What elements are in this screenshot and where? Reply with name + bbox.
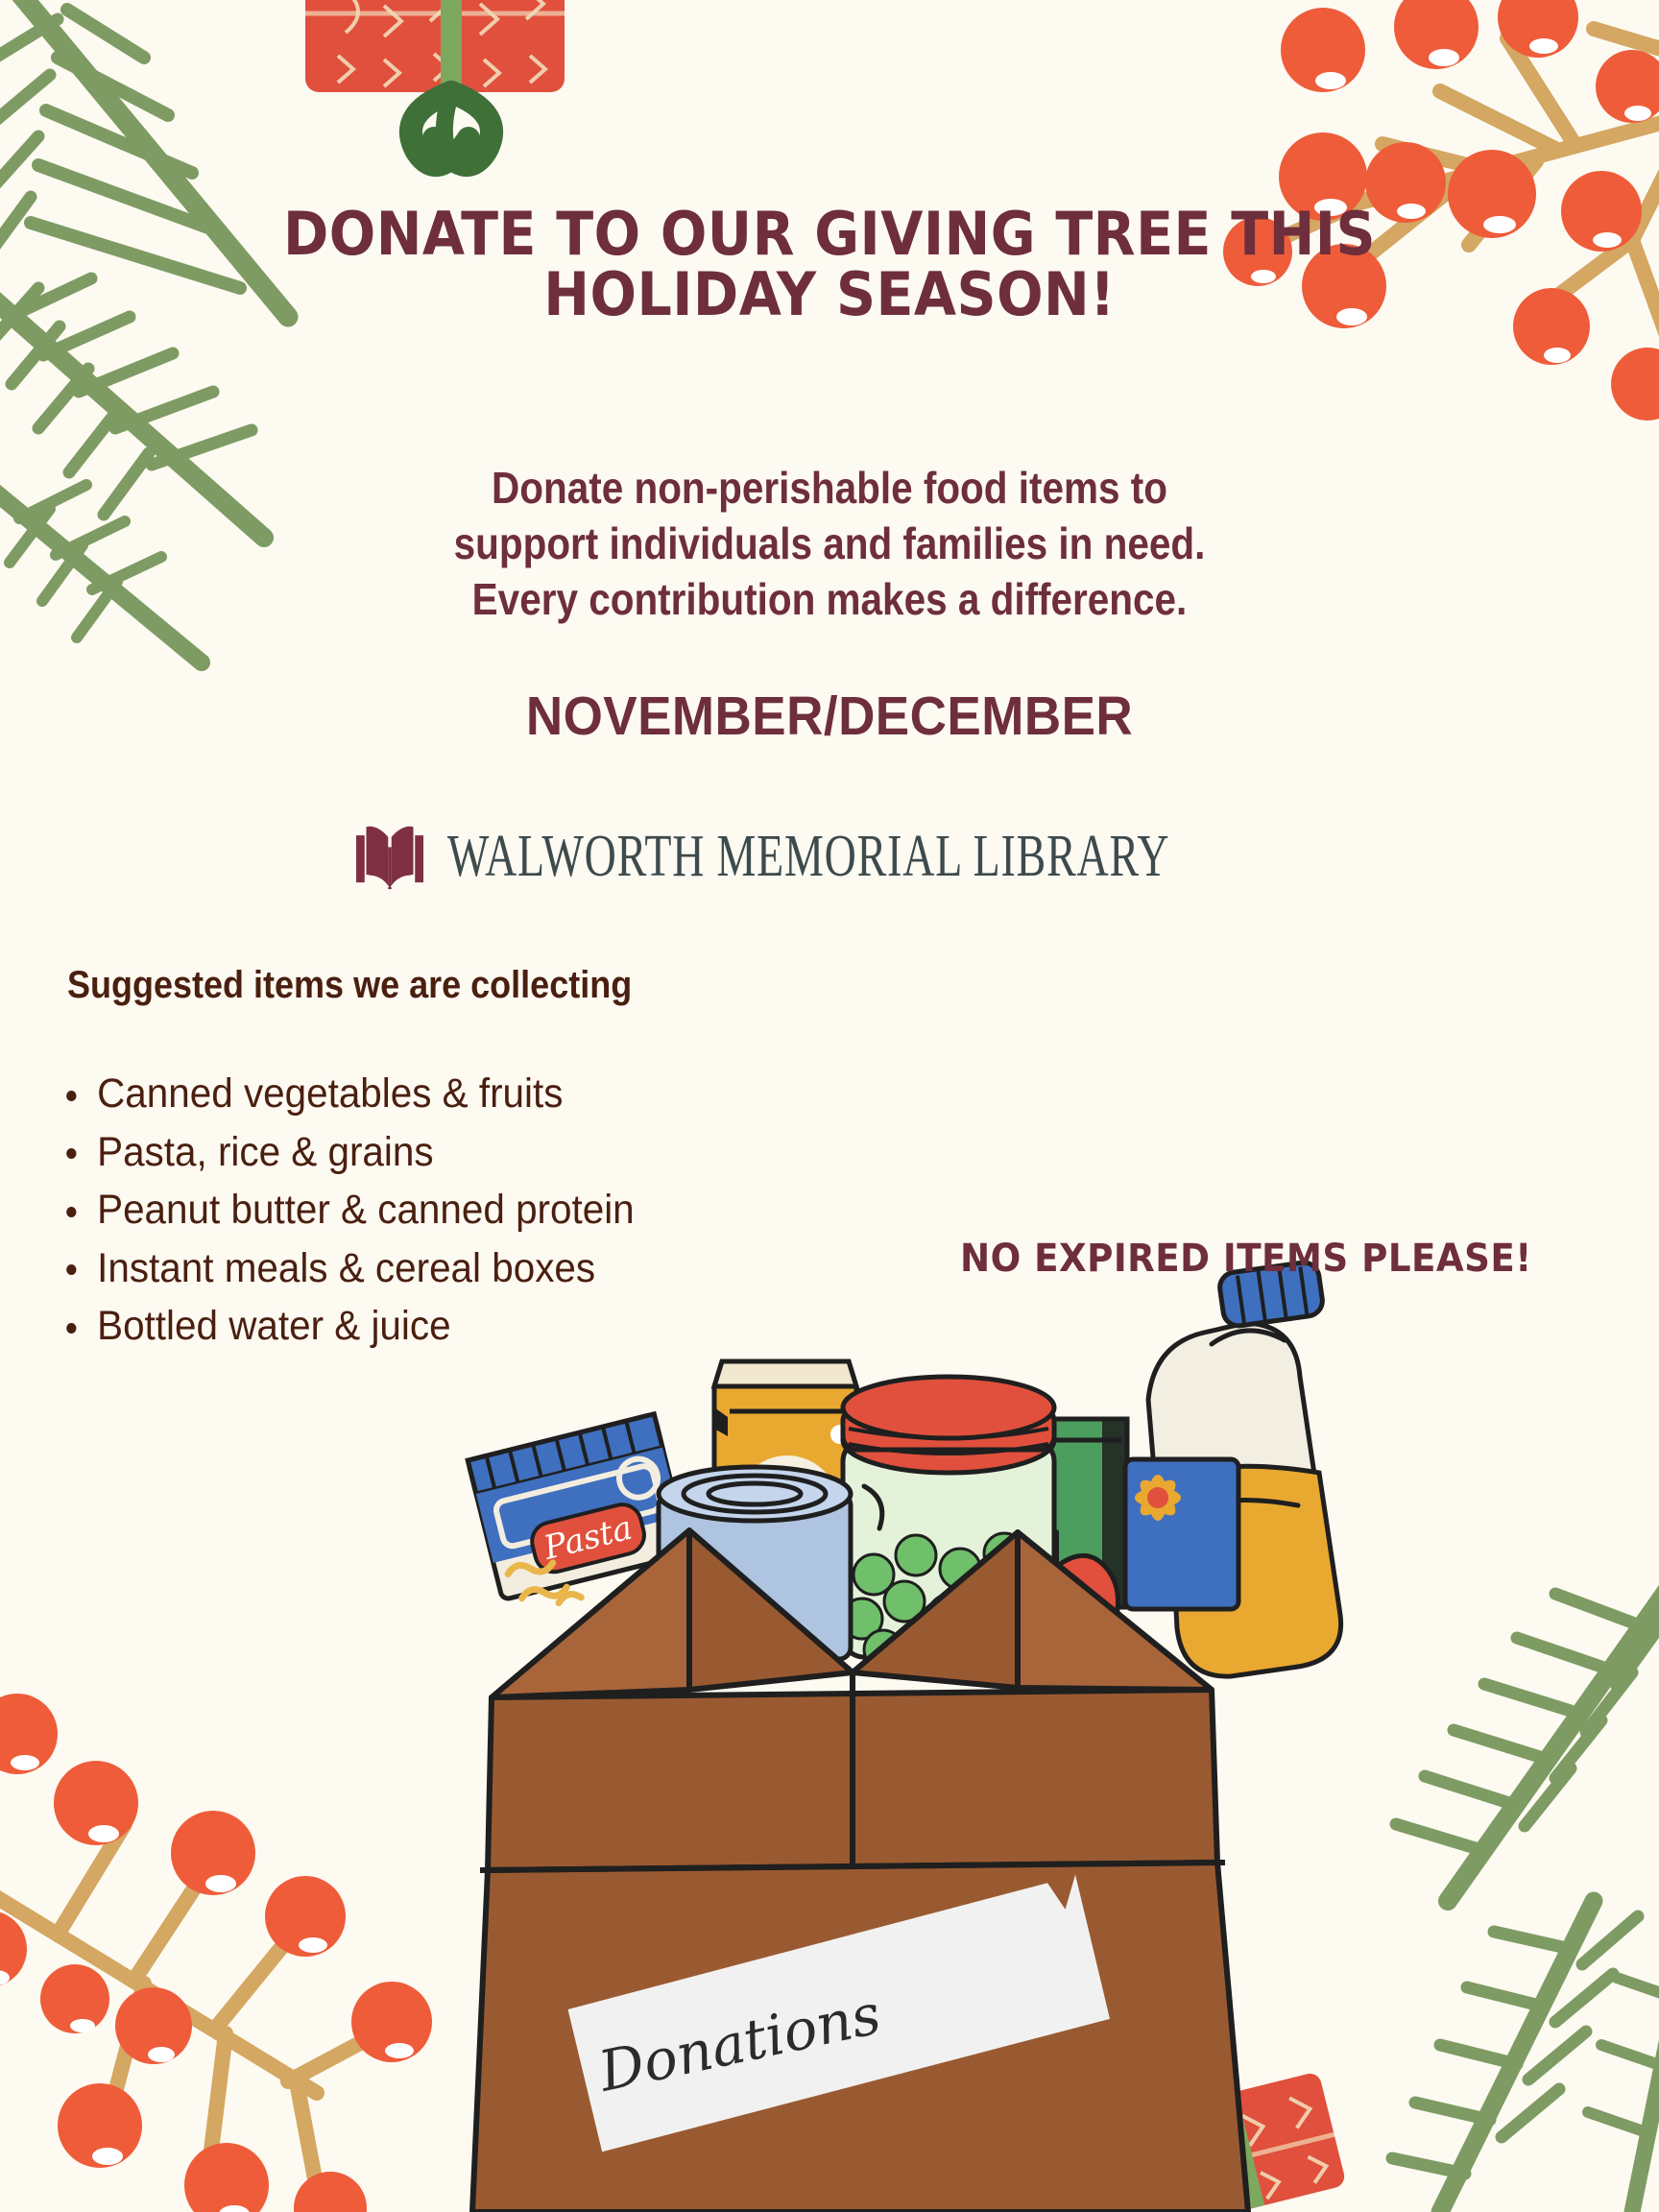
list-item: Bottled water & juice [54, 1300, 685, 1353]
collection-months: NOVEMBER/DECEMBER [250, 689, 1410, 744]
lead-line-2: support individuals and families in need… [280, 517, 1379, 572]
list-item: Canned vegetables & fruits [54, 1068, 685, 1120]
suggested-items-heading: Suggested items we are collecting [67, 964, 632, 1007]
list-item: Instant meals & cereal boxes [54, 1242, 685, 1295]
lead-paragraph: Donate non-perishable food items to supp… [280, 461, 1379, 628]
title-line-2: HOLIDAY SEASON! [255, 264, 1404, 325]
lead-line-1: Donate non-perishable food items to [280, 461, 1379, 517]
library-name: WALWORTH MEMORIAL LIBRARY [447, 822, 1169, 891]
no-expired-notice: NO EXPIRED ITEMS PLEASE! [960, 1237, 1532, 1281]
open-book-icon [349, 822, 430, 891]
lead-line-3: Every contribution makes a difference. [280, 572, 1379, 628]
poster-content: DONATE TO OUR GIVING TREE THIS HOLIDAY S… [0, 0, 1659, 2212]
list-item: Peanut butter & canned protein [54, 1184, 685, 1237]
suggested-items-list: Canned vegetables & fruits Pasta, rice &… [54, 1068, 726, 1358]
title-line-1: DONATE TO OUR GIVING TREE THIS [255, 204, 1404, 264]
page-title: DONATE TO OUR GIVING TREE THIS HOLIDAY S… [255, 204, 1404, 325]
library-logo: WALWORTH MEMORIAL LIBRARY [349, 822, 1329, 891]
list-item: Pasta, rice & grains [54, 1126, 685, 1179]
